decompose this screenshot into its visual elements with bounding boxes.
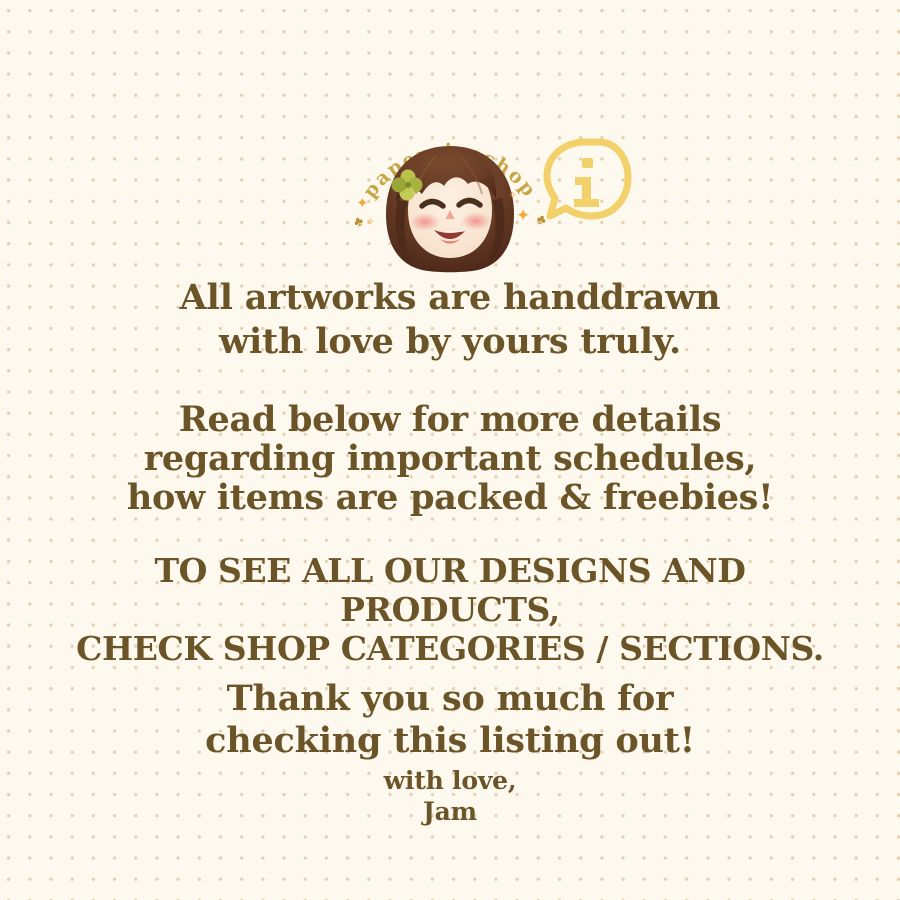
signature-block: with love, Jam bbox=[0, 762, 900, 827]
spacer-1 bbox=[0, 364, 900, 400]
info-speech-bubble-icon bbox=[538, 132, 634, 228]
sparkle-icon-4: ✦ bbox=[516, 208, 530, 225]
paragraph-details: Read below for more details regarding im… bbox=[0, 400, 900, 517]
listing-info-card: paperaicashop bbox=[0, 0, 900, 900]
caps-line-3: CHECK SHOP CATEGORIES / SECTIONS. bbox=[0, 629, 900, 668]
signature-line-1: with love, bbox=[0, 765, 900, 796]
girl-avatar-illustration bbox=[374, 140, 526, 275]
thanks-line-1: Thank you so much for bbox=[0, 678, 900, 720]
intro-line-1: All artworks are handdrawn bbox=[0, 276, 900, 320]
sparkle-icon-3: ✧ bbox=[508, 190, 517, 201]
spacer-2 bbox=[0, 517, 900, 551]
details-line-3: how items are packed & freebies! bbox=[0, 478, 900, 517]
paragraph-shop-categories-notice: TO SEE ALL OUR DESIGNS AND PRODUCTS, CHE… bbox=[0, 551, 900, 668]
paragraph-intro: All artworks are handdrawn with love by … bbox=[0, 276, 900, 364]
brand-header: paperaicashop bbox=[0, 112, 900, 277]
shop-logo: paperaicashop bbox=[348, 112, 552, 277]
sparkle-icon-1: ✦ bbox=[356, 196, 369, 211]
paragraph-thanks: Thank you so much for checking this list… bbox=[0, 678, 900, 762]
caps-line-1: TO SEE ALL OUR DESIGNS AND bbox=[0, 551, 900, 590]
message-body: All artworks are handdrawn with love by … bbox=[0, 276, 900, 827]
details-line-1: Read below for more details bbox=[0, 400, 900, 439]
sparkle-icon-2: ✧ bbox=[366, 218, 374, 228]
spacer-3 bbox=[0, 668, 900, 678]
intro-line-2: with love by yours truly. bbox=[0, 320, 900, 364]
thanks-line-2: checking this listing out! bbox=[0, 720, 900, 762]
signature-line-2: Jam bbox=[0, 796, 900, 827]
caps-line-2: PRODUCTS, bbox=[0, 590, 900, 629]
details-line-2: regarding important schedules, bbox=[0, 439, 900, 478]
